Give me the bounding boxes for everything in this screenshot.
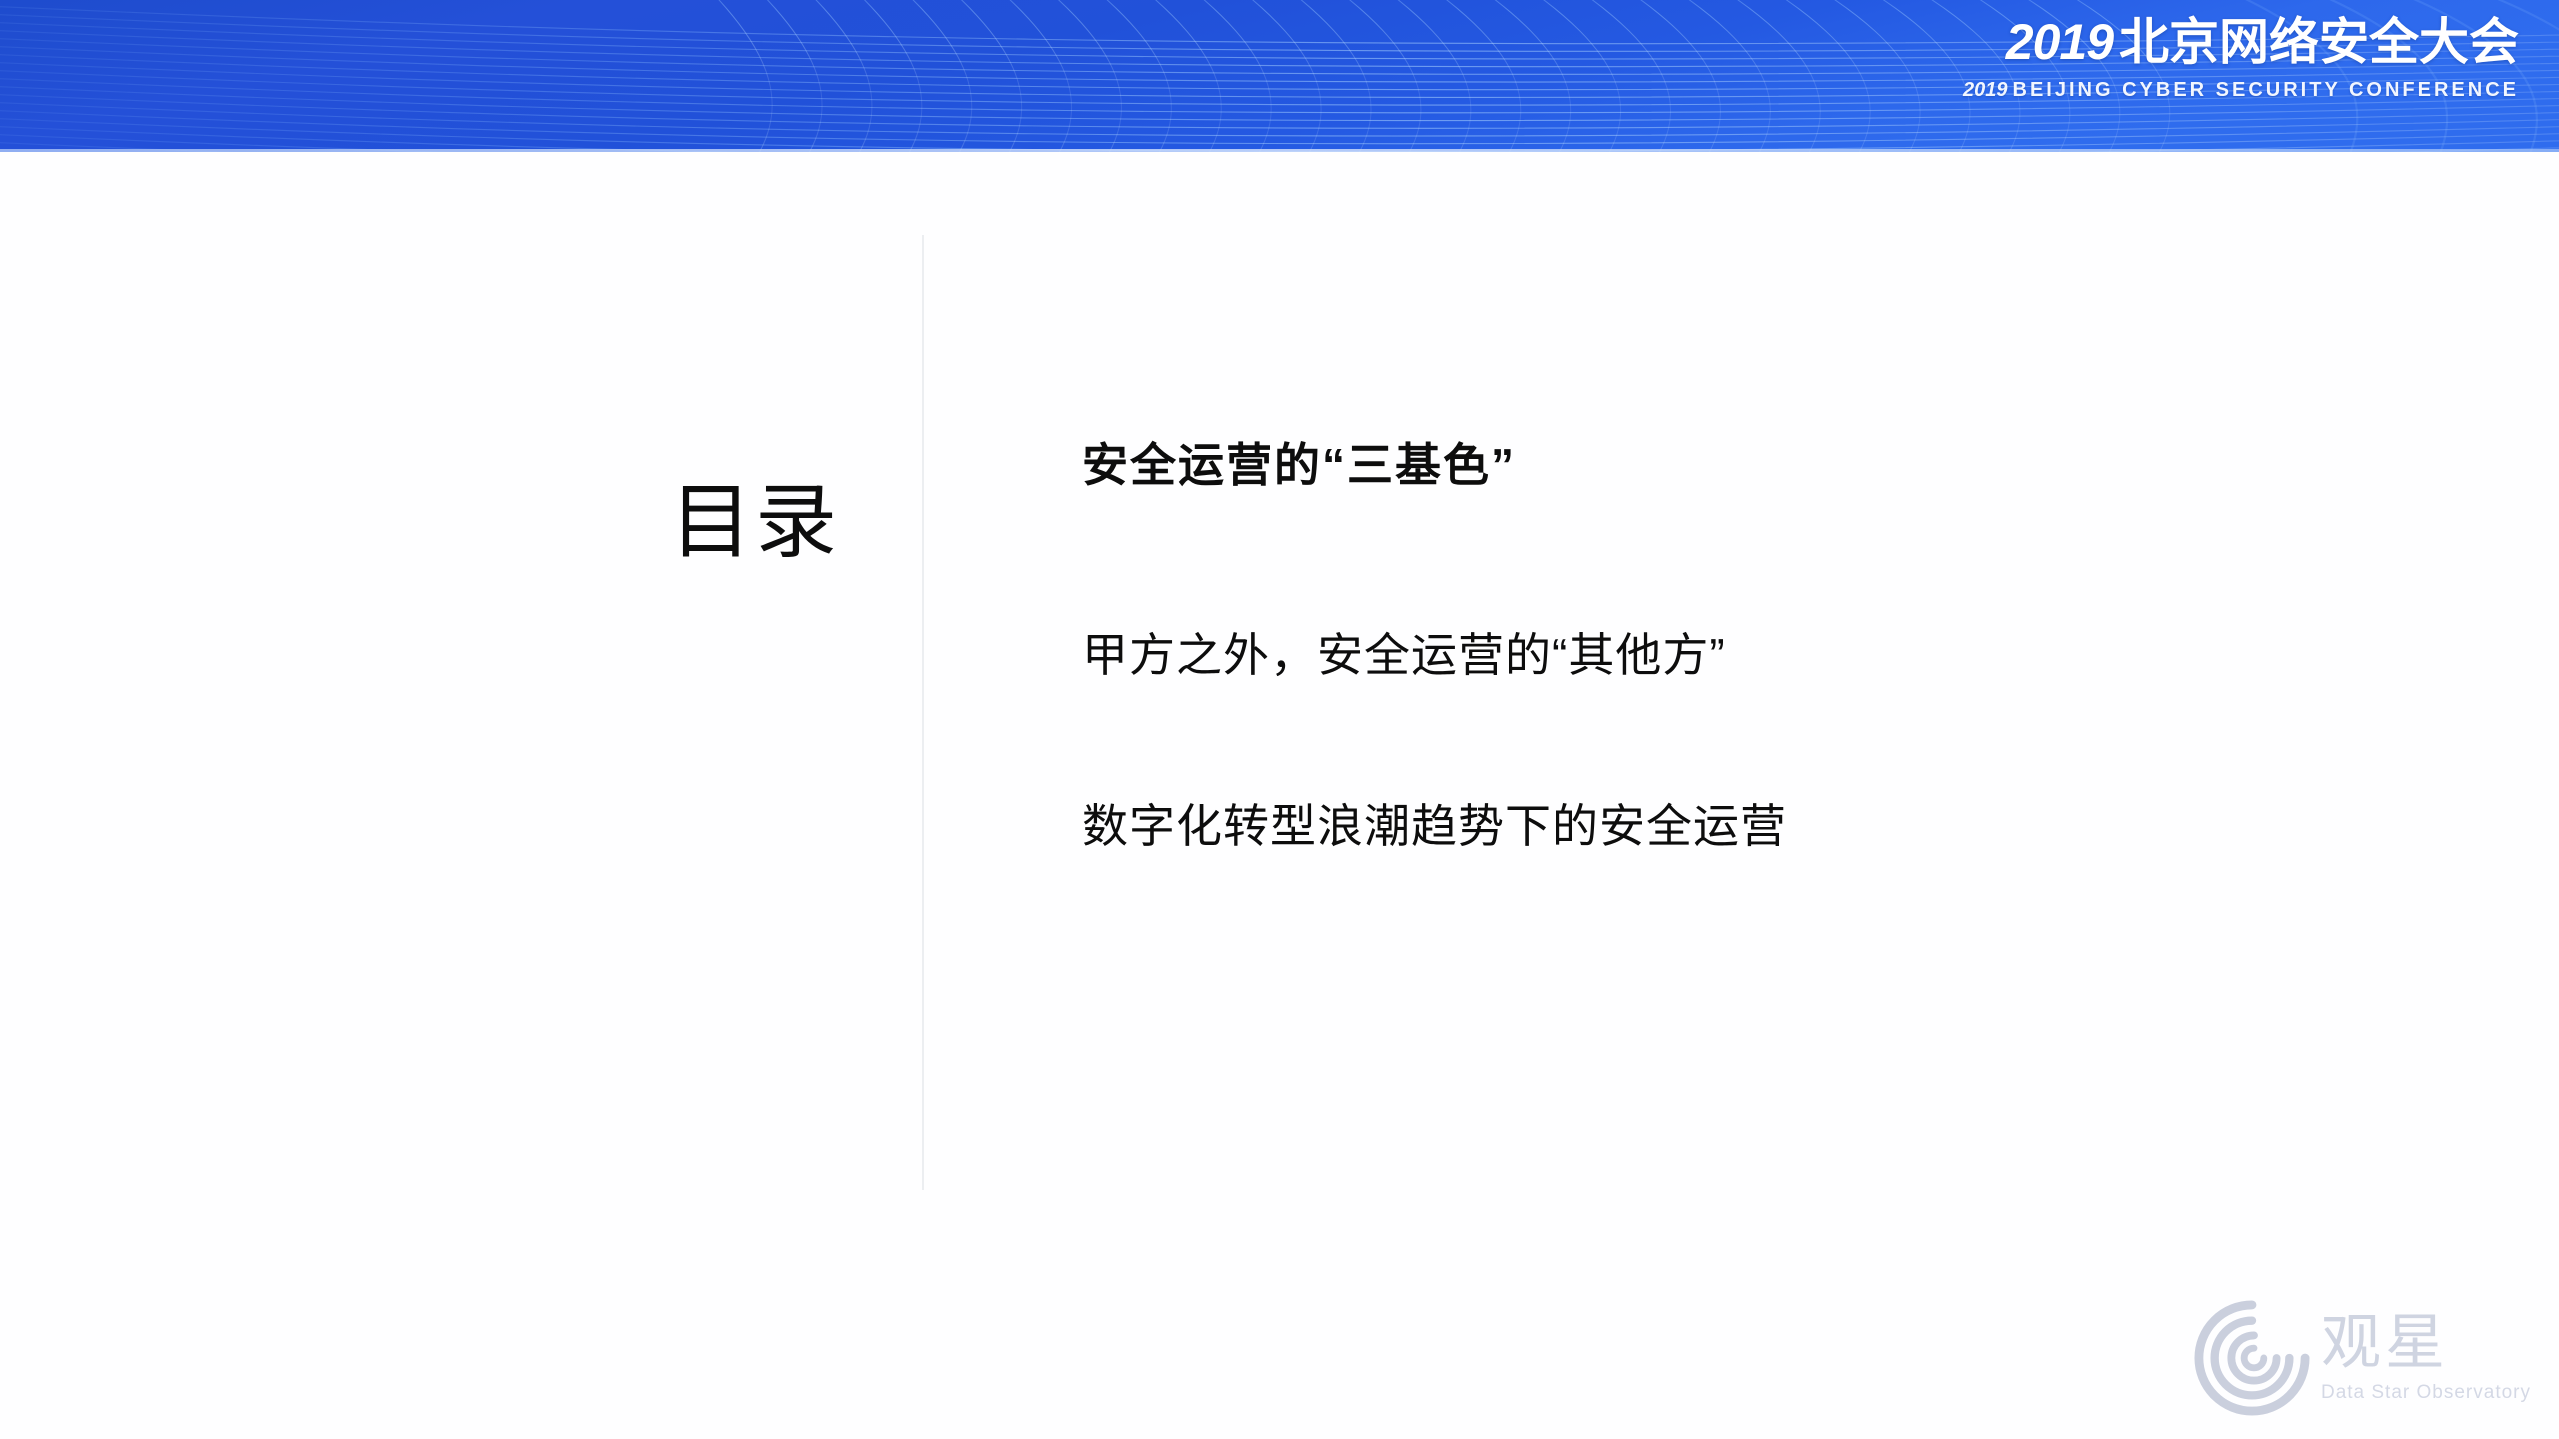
toc-item-3[interactable]: 数字化转型浪潮趋势下的安全运营 [1082,803,2382,849]
watermark-text: 观星 Data Star Observatory [2321,1313,2531,1404]
watermark-brand-en: Data Star Observatory [2321,1382,2531,1404]
spiral-logo-icon [2193,1299,2311,1417]
conference-title-cn: 2019北京网络安全大会 [1963,16,2519,69]
watermark-brand-cn: 观星 [2321,1313,2531,1373]
conference-logo: 2019北京网络安全大会 2019BEIJING CYBER SECURITY … [1963,16,2519,102]
conference-title-en: 2019BEIJING CYBER SECURITY CONFERENCE [1963,78,2519,102]
conference-banner: 2019北京网络安全大会 2019BEIJING CYBER SECURITY … [0,0,2559,152]
conference-name-cn: 北京网络安全大会 [2119,14,2519,70]
watermark: 观星 Data Star Observatory [2193,1299,2531,1417]
page-title: 目录 [670,482,840,564]
table-of-contents: 安全运营的“三基色” 甲方之外，安全运营的“其他方” 数字化转型浪潮趋势下的安全… [1082,442,2382,849]
slide-body: 目录 安全运营的“三基色” 甲方之外，安全运营的“其他方” 数字化转型浪潮趋势下… [0,152,2559,1439]
conference-year-en: 2019 [1963,79,2008,101]
conference-name-en: BEIJING CYBER SECURITY CONFERENCE [2013,79,2519,101]
toc-item-1[interactable]: 安全运营的“三基色” [1082,442,2382,488]
slide-canvas: 2019北京网络安全大会 2019BEIJING CYBER SECURITY … [0,0,2559,1439]
toc-item-2[interactable]: 甲方之外，安全运营的“其他方” [1082,632,2382,678]
vertical-divider [922,235,924,1190]
conference-year: 2019 [2006,14,2113,70]
